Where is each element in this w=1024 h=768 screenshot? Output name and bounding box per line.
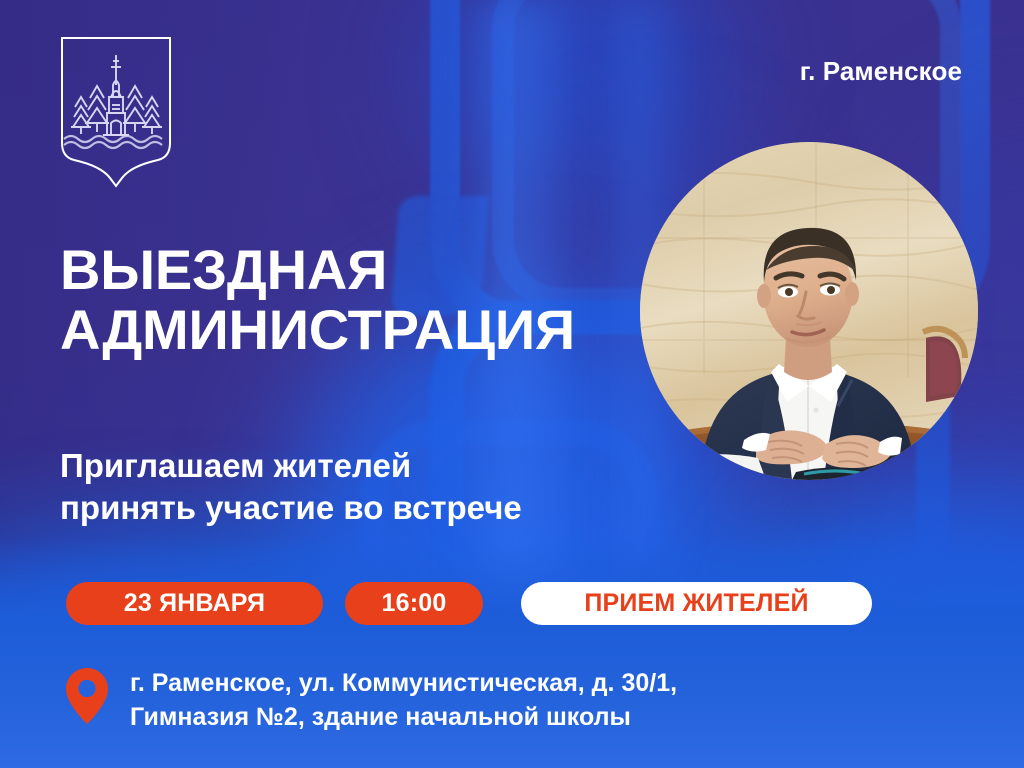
event-type-badge[interactable]: ПРИЕМ ЖИТЕЛЕЙ xyxy=(521,582,872,625)
subtitle: Приглашаем жителей принять участие во вс… xyxy=(60,445,680,529)
subtitle-line-2: принять участие во встрече xyxy=(60,487,680,529)
location-pin-icon xyxy=(66,668,108,724)
official-portrait-photo xyxy=(640,142,978,480)
address-block: г. Раменское, ул. Коммунистическая, д. 3… xyxy=(66,666,677,734)
badge-row: 23 ЯНВАРЯ 16:00 ПРИЕМ ЖИТЕЛЕЙ xyxy=(66,582,872,625)
page-title: ВЫЕЗДНАЯ АДМИНИСТРАЦИЯ xyxy=(60,240,700,360)
address-line-2: Гимназия №2, здание начальной школы xyxy=(130,700,677,734)
headline-line-2: АДМИНИСТРАЦИЯ xyxy=(60,300,700,360)
time-badge[interactable]: 16:00 xyxy=(345,582,483,625)
subtitle-line-1: Приглашаем жителей xyxy=(60,447,411,484)
address-text: г. Раменское, ул. Коммунистическая, д. 3… xyxy=(130,666,677,734)
address-line-1: г. Раменское, ул. Коммунистическая, д. 3… xyxy=(130,669,677,697)
city-label: г. Раменское xyxy=(800,56,962,87)
coat-of-arms-icon xyxy=(59,35,173,195)
headline-line-1: ВЫЕЗДНАЯ xyxy=(60,238,387,301)
poster-canvas: г. Раменское ВЫЕЗДНАЯ АДМИНИСТРАЦИЯ Приг… xyxy=(0,0,1024,768)
date-badge[interactable]: 23 ЯНВАРЯ xyxy=(66,582,323,625)
